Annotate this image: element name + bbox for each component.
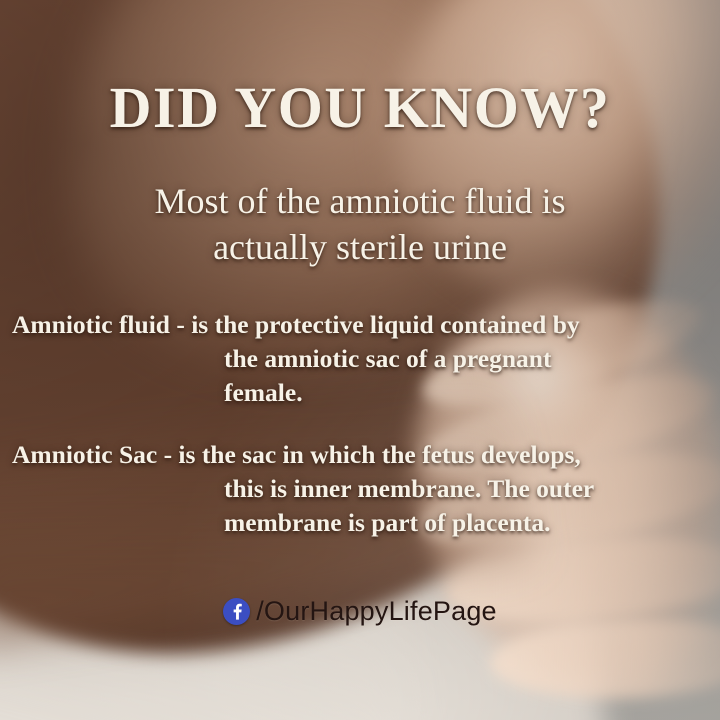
poster-canvas: DID YOU KNOW? Most of the amniotic fluid… [0, 0, 720, 720]
fact-amniotic-fluid: Amniotic fluid - is the protective liqui… [12, 308, 708, 410]
facebook-attribution[interactable]: /OurHappyLifePage [0, 598, 720, 625]
fact-line: Amniotic fluid - is the protective liqui… [12, 308, 708, 342]
subheadline-line-2: actually sterile urine [52, 224, 668, 270]
subheadline-line-1: Most of the amniotic fluid is [52, 178, 668, 224]
fact-line: Amniotic Sac - is the sac in which the f… [12, 438, 708, 472]
fact-line: this is inner membrane. The outer [12, 472, 708, 506]
poster-content: DID YOU KNOW? Most of the amniotic fluid… [0, 0, 720, 720]
fact-amniotic-sac: Amniotic Sac - is the sac in which the f… [12, 438, 708, 540]
fact-list: Amniotic fluid - is the protective liqui… [12, 308, 708, 567]
headline: DID YOU KNOW? [0, 78, 720, 139]
fact-line: membrane is part of placenta. [12, 506, 708, 540]
fact-line: the amniotic sac of a pregnant [12, 342, 708, 376]
facebook-page-handle[interactable]: /OurHappyLifePage [256, 598, 497, 625]
fact-line: female. [12, 376, 708, 410]
facebook-f-icon[interactable] [223, 598, 250, 625]
subheadline: Most of the amniotic fluid is actually s… [52, 178, 668, 270]
